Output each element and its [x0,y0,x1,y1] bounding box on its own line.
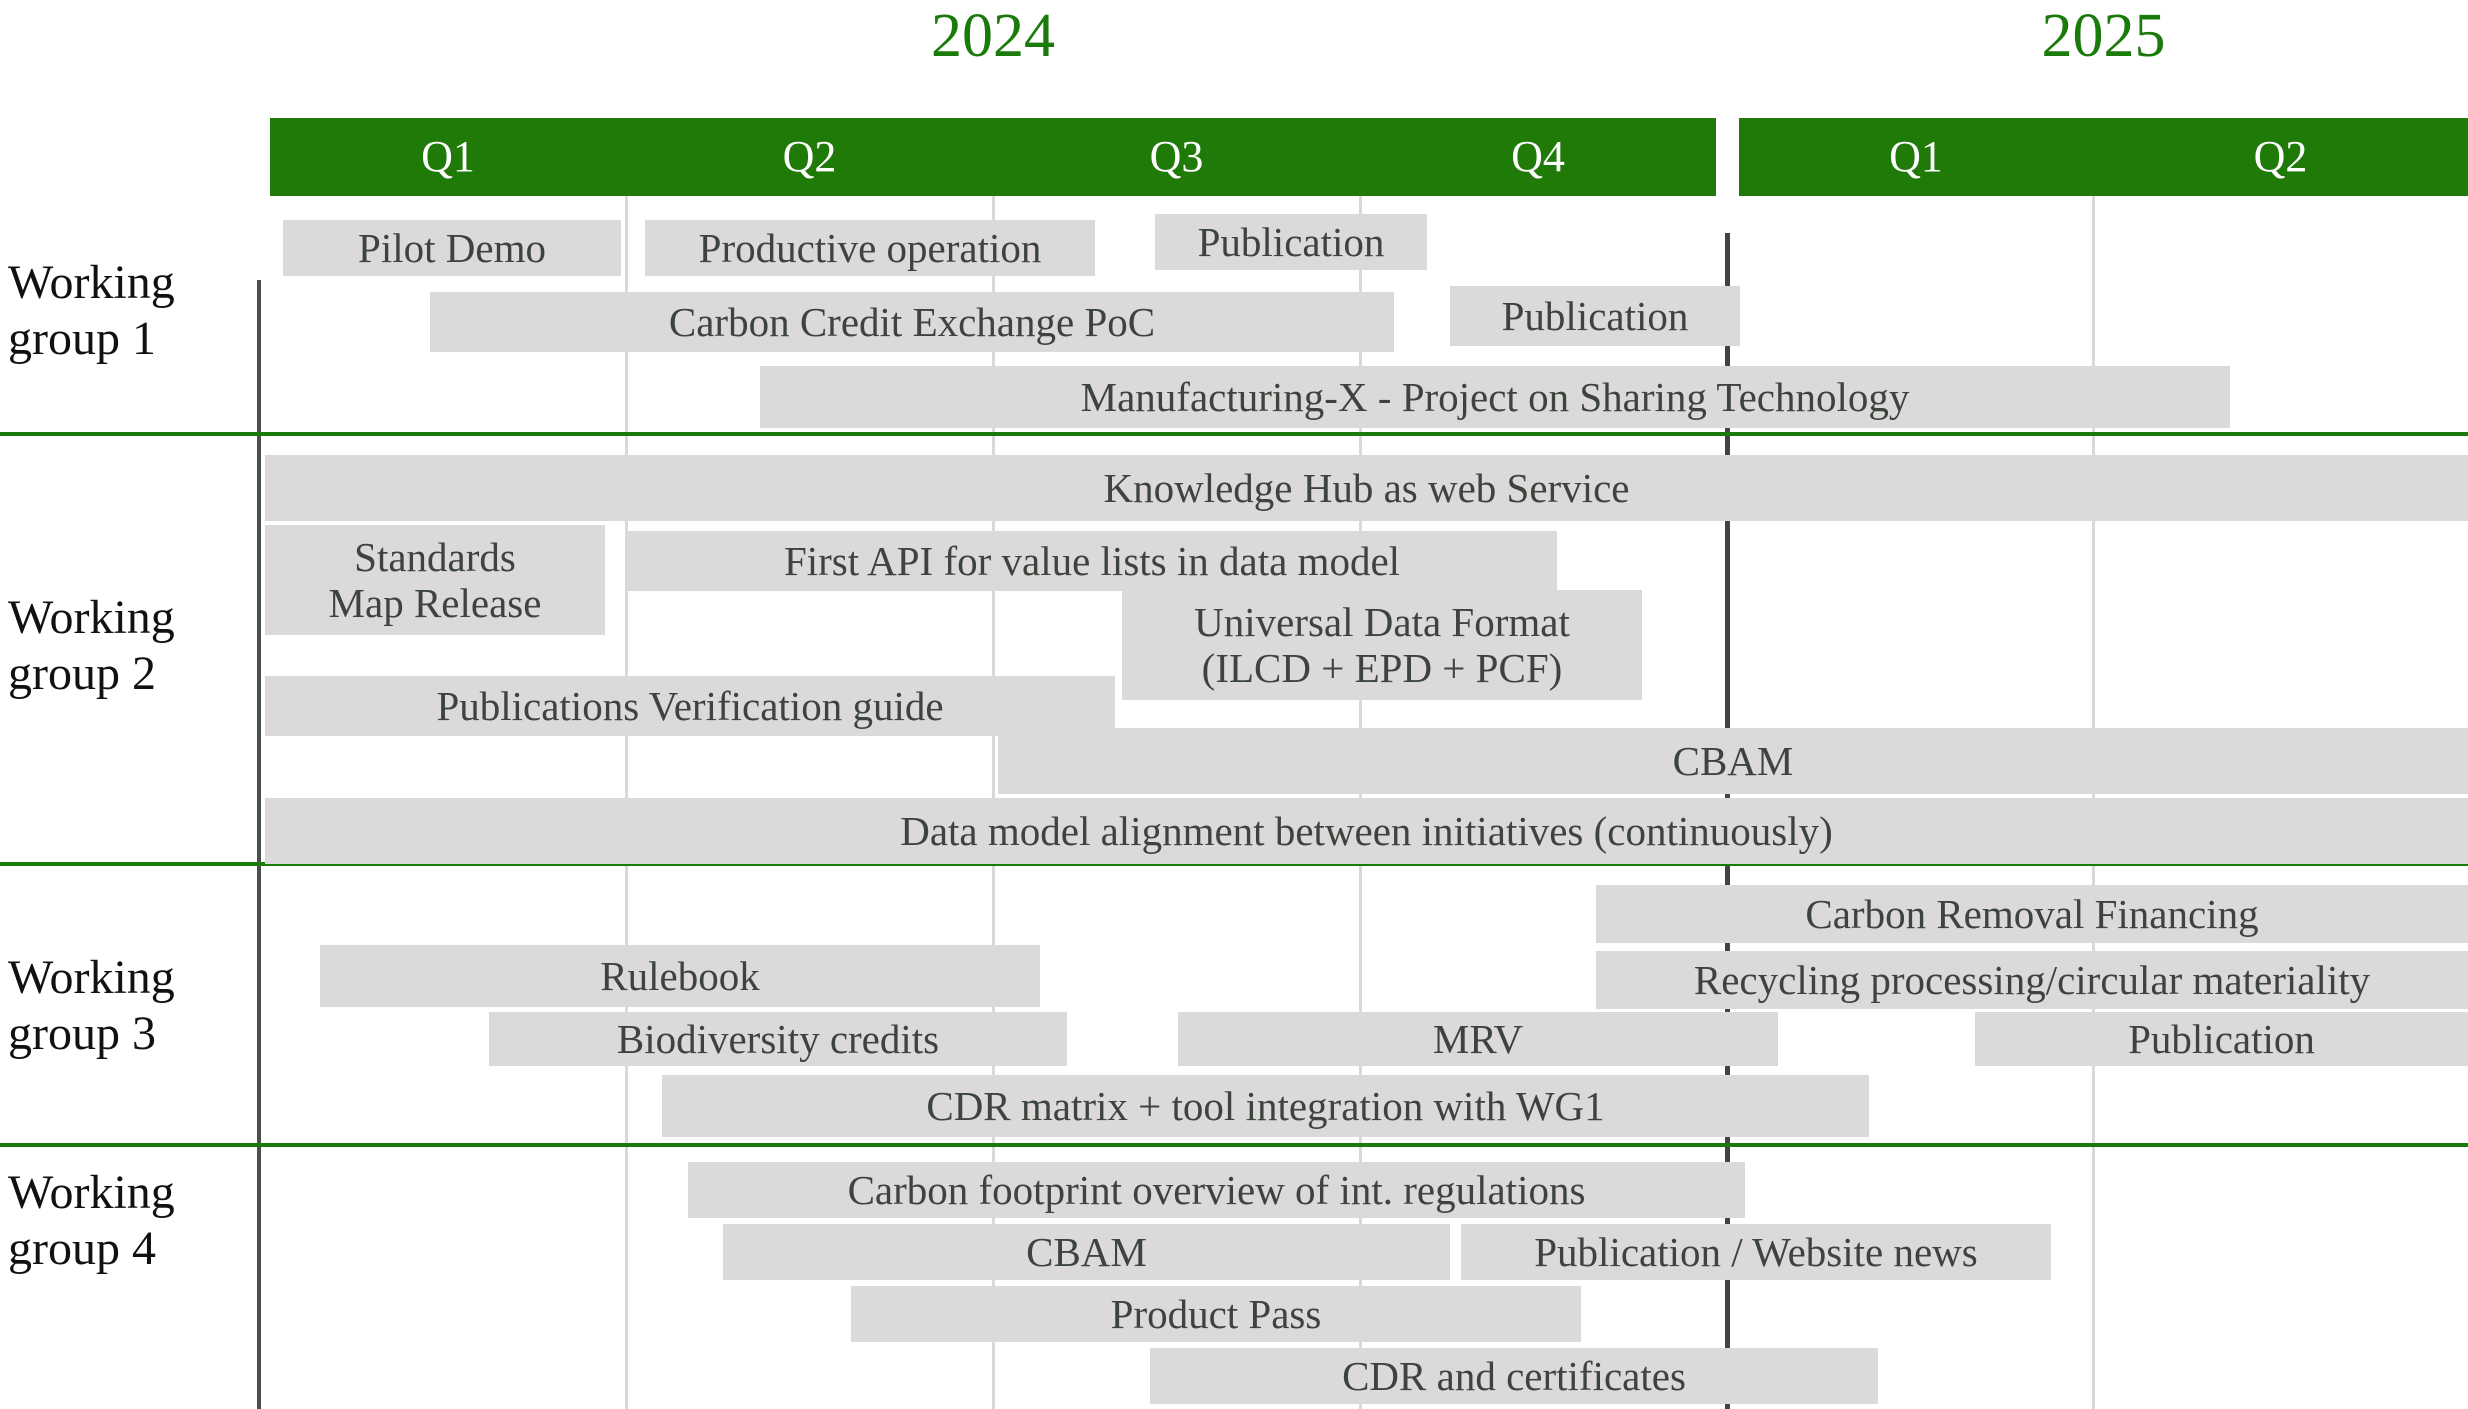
group-label-line1: Working [8,950,175,1006]
group-label-line2: group 3 [8,1006,175,1062]
task-bar[interactable]: CDR and certificates [1150,1348,1878,1404]
group-label-line1: Working [8,255,175,311]
task-bar[interactable]: CBAM [998,728,2468,794]
group-label-line2: group 4 [8,1221,175,1277]
task-bar[interactable]: Recycling processing/circular materialit… [1596,951,2468,1009]
row-separator-wg1-wg2 [0,432,2468,436]
quarter-header-2024-q2[interactable]: Q2 [626,118,993,196]
task-bar[interactable]: Carbon Credit Exchange PoC [430,292,1394,352]
task-bar[interactable]: First API for value lists in data model [627,531,1557,591]
quarter-header-2025-q1[interactable]: Q1 [1739,118,2093,196]
quarter-header-2024-q3[interactable]: Q3 [993,118,1360,196]
task-bar[interactable]: Pilot Demo [283,220,621,276]
quarter-header-2025-q2[interactable]: Q2 [2093,118,2468,196]
group-label-line2: group 2 [8,646,175,702]
quarter-header-2024-q4[interactable]: Q4 [1360,118,1716,196]
task-bar[interactable]: Rulebook [320,945,1040,1007]
row-separator-wg3-wg4 [0,1143,2468,1147]
year-label-2024: 2024 [270,5,1716,67]
task-bar[interactable]: Biodiversity credits [489,1012,1067,1066]
task-bar[interactable]: Publication / Website news [1461,1224,2051,1280]
gantt-roadmap-chart: 2024 2025 Q1 Q2 Q3 Q4 Q1 Q2 Working grou… [0,0,2468,1409]
group-label-working-group-1: Working group 1 [8,255,175,367]
task-bar[interactable]: Knowledge Hub as web Service [265,455,2468,521]
task-bar[interactable]: Publications Verification guide [265,676,1115,736]
group-label-line1: Working [8,1165,175,1221]
task-bar[interactable]: Universal Data Format (ILCD + EPD + PCF) [1122,590,1642,700]
group-label-working-group-2: Working group 2 [8,590,175,702]
task-bar[interactable]: Carbon Removal Financing [1596,885,2468,943]
task-bar[interactable]: CBAM [723,1224,1450,1280]
group-label-working-group-3: Working group 3 [8,950,175,1062]
task-bar[interactable]: Publication [1450,286,1740,346]
task-bar[interactable]: Productive operation [645,220,1095,276]
task-bar[interactable]: Standards Map Release [265,525,605,635]
task-bar[interactable]: Product Pass [851,1286,1581,1342]
task-bar[interactable]: Publication [1155,214,1427,270]
task-bar[interactable]: Publication [1975,1012,2468,1066]
task-bar[interactable]: MRV [1178,1012,1778,1066]
chart-left-axis [257,280,261,1409]
task-bar[interactable]: Carbon footprint overview of int. regula… [688,1162,1745,1218]
task-bar[interactable]: Data model alignment between initiatives… [265,798,2468,864]
group-label-line1: Working [8,590,175,646]
group-label-line2: group 1 [8,311,175,367]
year-label-2025: 2025 [1739,5,2468,67]
quarter-header-2024-q1[interactable]: Q1 [270,118,626,196]
task-bar[interactable]: Manufacturing-X - Project on Sharing Tec… [760,366,2230,428]
group-label-working-group-4: Working group 4 [8,1165,175,1277]
task-bar[interactable]: CDR matrix + tool integration with WG1 [662,1075,1869,1137]
